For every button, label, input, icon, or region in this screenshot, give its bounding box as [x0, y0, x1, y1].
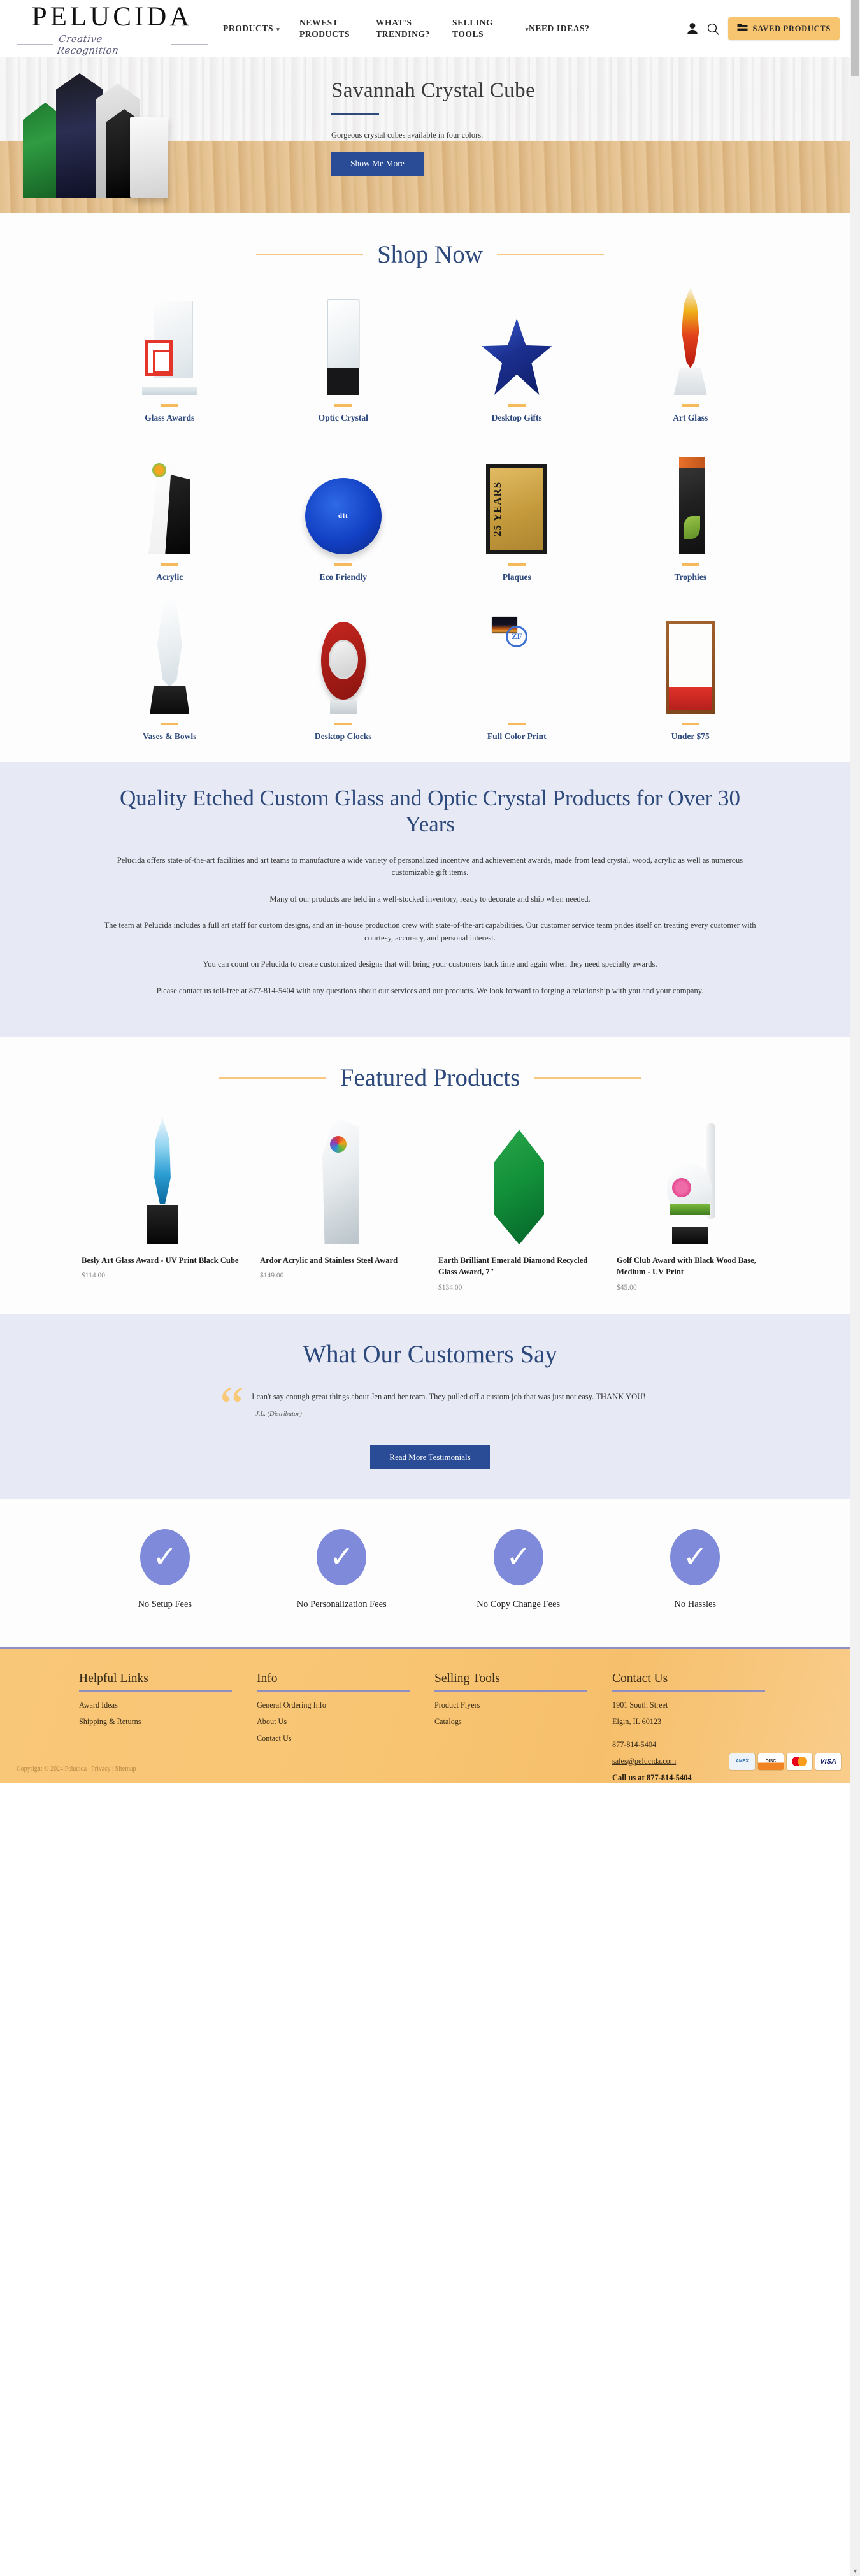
category-image: dlt [259, 446, 428, 554]
featured-products-section: Featured Products Besly Art Glass Award … [0, 1037, 860, 1314]
footer-columns: Helpful Links Award Ideas Shipping & Ret… [70, 1672, 790, 1783]
quality-paragraph: You can count on Pelucida to create cust… [99, 958, 761, 971]
category-card-desktop-gifts[interactable]: Desktop Gifts [430, 280, 604, 437]
footer-column-title: Contact Us [612, 1672, 790, 1686]
category-label: Acrylic [85, 572, 254, 582]
hero-text-block: Savannah Crystal Cube Gorgeous crystal c… [331, 79, 688, 176]
footer-link-contact-us[interactable]: Contact Us [257, 1734, 434, 1743]
quality-paragraph: Pelucida offers state-of-the-art facilit… [99, 854, 761, 879]
category-card-full-color-print[interactable]: ZF Full Color Print [430, 599, 604, 756]
benefits-grid: ✓ No Setup Fees ✓ No Personalization Fee… [76, 1529, 784, 1610]
amex-card-icon: AMEX [729, 1753, 755, 1770]
acrylic-steel-award-icon [319, 1117, 363, 1244]
footer-column-info: Info General Ordering Info About Us Cont… [257, 1672, 434, 1783]
testimonials-section: What Our Customers Say “ I can't say eno… [0, 1314, 860, 1499]
footer-link-award-ideas[interactable]: Award Ideas [79, 1701, 257, 1710]
testimonial-quote: I can't say enough great things about Je… [252, 1390, 645, 1404]
shop-now-section: Shop Now Glass Awards Optic Crystal [0, 213, 860, 762]
footer-address-line1: 1901 South Street [612, 1701, 790, 1710]
category-divider [508, 723, 526, 725]
copyright-text: Copyright © 2024 Pelucida [17, 1766, 87, 1773]
category-label: Glass Awards [85, 413, 254, 423]
scroll-down-arrow[interactable]: ▼ [852, 2568, 858, 2574]
folder-icon [737, 23, 748, 34]
star-award-icon [482, 319, 552, 395]
payment-methods: AMEX DISC VISA [729, 1753, 841, 1770]
product-price: $149.00 [260, 1272, 422, 1279]
nav-label: NEED IDEAS? [529, 23, 590, 34]
footer-spacer [612, 1734, 790, 1740]
hero-title: Savannah Crystal Cube [331, 79, 688, 103]
category-label: Trophies [606, 572, 775, 582]
eco-friendly-disc-icon: dlt [305, 478, 382, 554]
benefit-item: ✓ No Copy Change Fees [430, 1529, 607, 1610]
quality-heading: Quality Etched Custom Glass and Optic Cr… [108, 785, 752, 838]
category-image [85, 605, 254, 714]
page-scrollbar[interactable]: ▲ ▼ [850, 0, 860, 2576]
category-label: Eco Friendly [259, 572, 428, 582]
quality-paragraph: Many of our products are held in a well-… [99, 893, 761, 906]
category-label: Vases & Bowls [85, 731, 254, 742]
benefit-label: No Setup Fees [76, 1599, 254, 1610]
product-card[interactable]: Earth Brilliant Emerald Diamond Recycled… [433, 1107, 605, 1308]
footer-column-title: Selling Tools [434, 1672, 612, 1686]
category-image [606, 287, 775, 395]
plaque-years-text: 25 YEARS [491, 475, 505, 543]
category-image [606, 446, 775, 554]
footer-call-us: Call us at 877-814-5404 [612, 1773, 790, 1783]
art-glass-spire-icon [143, 1117, 182, 1244]
footer-link-catalogs[interactable]: Catalogs [434, 1717, 612, 1727]
testimonial-row: “ I can't say enough great things about … [92, 1386, 768, 1426]
category-label: Desktop Gifts [433, 413, 601, 423]
sitemap-link[interactable]: Sitemap [115, 1766, 136, 1773]
featured-product-grid: Besly Art Glass Award - UV Print Black C… [76, 1107, 784, 1308]
emerald-diamond-icon [494, 1130, 544, 1244]
benefit-label: No Personalization Fees [254, 1599, 431, 1610]
category-image [85, 287, 254, 395]
footer-phone-link[interactable]: 877-814-5404 [612, 1740, 790, 1750]
category-divider [334, 723, 352, 725]
main-navigation: PRODUCTS ▾ NEWEST PRODUCTS WHAT'S TRENDI… [208, 17, 687, 40]
category-image [606, 605, 775, 714]
category-label: Plaques [433, 572, 601, 582]
category-divider [334, 404, 352, 407]
category-image: ZF [433, 605, 601, 714]
quality-paragraph: Please contact us toll-free at 877-814-5… [99, 985, 761, 998]
testimonials-title: What Our Customers Say [0, 1340, 860, 1369]
benefit-item: ✓ No Setup Fees [76, 1529, 254, 1610]
category-divider [161, 563, 178, 566]
chevron-down-icon: ▾ [526, 25, 529, 33]
user-icon[interactable] [687, 22, 698, 35]
product-card[interactable]: Besly Art Glass Award - UV Print Black C… [76, 1107, 248, 1308]
category-divider [682, 563, 699, 566]
footer-column-rule [257, 1690, 410, 1692]
logo-rule-right [171, 44, 208, 45]
full-color-print-icon: ZF [492, 617, 541, 714]
category-divider [508, 563, 526, 566]
hero-cta-button[interactable]: Show Me More [331, 152, 424, 176]
category-divider [161, 723, 178, 725]
product-price: $134.00 [438, 1284, 600, 1292]
category-label: Optic Crystal [259, 413, 428, 423]
category-card-under-75[interactable]: Under $75 [604, 599, 778, 756]
category-card-plaques[interactable]: 25 YEARS Plaques [430, 440, 604, 596]
category-divider [682, 723, 699, 725]
footer-link-shipping-returns[interactable]: Shipping & Returns [79, 1717, 257, 1727]
golf-club-award-icon [667, 1123, 728, 1244]
nav-label: WHAT'S TRENDING? [376, 17, 452, 40]
footer-column-title: Helpful Links [79, 1672, 257, 1686]
quality-paragraph: The team at Pelucida includes a full art… [99, 919, 761, 944]
benefits-section: ✓ No Setup Fees ✓ No Personalization Fee… [0, 1499, 860, 1647]
footer-copyright: Copyright © 2024 Pelucida | Privacy | Si… [17, 1766, 136, 1773]
footer-link-about-us[interactable]: About Us [257, 1717, 434, 1727]
check-circle-icon: ✓ [670, 1529, 720, 1585]
category-image [259, 605, 428, 714]
plaque-icon: 25 YEARS [486, 464, 547, 554]
category-label: Full Color Print [433, 731, 601, 742]
quality-section: Quality Etched Custom Glass and Optic Cr… [0, 762, 860, 1037]
footer-column-rule [612, 1690, 765, 1692]
visa-card-icon: VISA [815, 1753, 841, 1770]
quote-icon: “ [220, 1386, 244, 1426]
product-name: Earth Brilliant Emerald Diamond Recycled… [438, 1255, 600, 1278]
nav-item-newest-products[interactable]: NEWEST PRODUCTS [299, 17, 376, 40]
product-image [617, 1107, 778, 1244]
discover-card-icon: DISC [758, 1753, 784, 1770]
category-card-desktop-clocks[interactable]: Desktop Clocks [257, 599, 431, 756]
footer-column-title: Info [257, 1672, 434, 1686]
product-price: $114.00 [82, 1272, 243, 1279]
product-image [260, 1107, 422, 1244]
hero-award-cube [130, 117, 168, 198]
nav-label: SELLING TOOLS [452, 17, 522, 40]
category-card-optic-crystal[interactable]: Optic Crystal [257, 280, 431, 437]
header-actions: SAVED PRODUCTS [687, 17, 851, 40]
heading-rule-left [219, 1077, 326, 1079]
benefit-item: ✓ No Personalization Fees [254, 1529, 431, 1610]
nav-item-products[interactable]: PRODUCTS ▾ [223, 23, 299, 34]
vase-icon [145, 599, 194, 714]
category-card-eco-friendly[interactable]: dlt Eco Friendly [257, 440, 431, 596]
check-circle-icon: ✓ [140, 1529, 190, 1585]
chevron-down-icon: ▾ [276, 25, 280, 33]
eco-badge-text: dlt [305, 478, 382, 554]
category-label: Desktop Clocks [259, 731, 428, 742]
product-price: $45.00 [617, 1284, 778, 1292]
search-icon[interactable] [707, 23, 719, 35]
category-label: Art Glass [606, 413, 775, 423]
saved-products-label: SAVED PRODUCTS [753, 24, 831, 34]
hero-banner: Savannah Crystal Cube Gorgeous crystal c… [0, 57, 860, 213]
fcp-logo-text: ZF [506, 626, 527, 647]
site-logo[interactable]: PELUCIDA Creative Recognition [17, 2, 208, 56]
category-image [259, 287, 428, 395]
category-card-vases-bowls[interactable]: Vases & Bowls [83, 599, 257, 756]
nav-label: NEWEST PRODUCTS [299, 17, 376, 40]
optic-crystal-icon [324, 299, 363, 395]
product-card[interactable]: Ardor Acrylic and Stainless Steel Award … [255, 1107, 427, 1308]
shop-now-title: Shop Now [377, 240, 483, 269]
footer-address-line2: Elgin, IL 60123 [612, 1717, 790, 1727]
check-circle-icon: ✓ [494, 1529, 543, 1585]
category-card-acrylic[interactable]: Acrylic [83, 440, 257, 596]
heading-rule-left [256, 254, 363, 255]
category-image: 25 YEARS [433, 446, 601, 554]
footer-column-rule [434, 1690, 587, 1692]
nav-item-need-ideas[interactable]: NEED IDEAS? [529, 23, 605, 34]
heading-rule-right [534, 1077, 641, 1079]
footer-column-rule [79, 1690, 232, 1692]
mastercard-card-icon [787, 1753, 812, 1770]
category-card-trophies[interactable]: Trophies [604, 440, 778, 596]
hero-award-photo [11, 69, 368, 206]
logo-rule-left [17, 44, 53, 45]
read-more-testimonials-button[interactable]: Read More Testimonials [370, 1445, 489, 1469]
under-75-plaque-icon [666, 621, 715, 714]
site-footer: Helpful Links Award Ideas Shipping & Ret… [0, 1647, 860, 1783]
heading-rule-right [497, 254, 604, 255]
category-label: Under $75 [606, 731, 775, 742]
saved-products-button[interactable]: SAVED PRODUCTS [728, 17, 840, 40]
category-divider [682, 404, 699, 407]
category-card-art-glass[interactable]: Art Glass [604, 280, 778, 437]
trophy-column-icon [673, 457, 708, 554]
footer-link-product-flyers[interactable]: Product Flyers [434, 1701, 612, 1710]
category-card-glass-awards[interactable]: Glass Awards [83, 280, 257, 437]
category-image [85, 446, 254, 554]
glass-award-icon [142, 301, 197, 395]
check-circle-icon: ✓ [317, 1529, 366, 1585]
featured-heading-row: Featured Products [0, 1063, 860, 1092]
category-divider [161, 404, 178, 407]
hero-subtitle: Gorgeous crystal cubes available in four… [331, 131, 688, 140]
logo-wordmark: PELUCIDA [17, 3, 208, 31]
product-name: Ardor Acrylic and Stainless Steel Award [260, 1255, 422, 1266]
benefit-label: No Copy Change Fees [430, 1599, 607, 1610]
category-image [433, 287, 601, 395]
product-name: Besly Art Glass Award - UV Print Black C… [82, 1255, 243, 1266]
art-glass-flame-icon [673, 287, 708, 395]
footer-link-general-ordering-info[interactable]: General Ordering Info [257, 1701, 434, 1710]
nav-item-whats-trending[interactable]: WHAT'S TRENDING? [376, 17, 452, 40]
privacy-link[interactable]: Privacy [91, 1766, 111, 1773]
featured-title: Featured Products [340, 1063, 520, 1092]
nav-label: PRODUCTS [223, 23, 273, 34]
product-name: Golf Club Award with Black Wood Base, Me… [617, 1255, 778, 1278]
acrylic-award-icon [148, 456, 190, 554]
benefit-label: No Hassles [607, 1599, 784, 1610]
product-image [438, 1107, 600, 1244]
testimonial-author: - J.L. (Distributor) [252, 1411, 645, 1418]
product-image [82, 1107, 243, 1244]
category-divider [508, 404, 526, 407]
desk-clock-icon [316, 618, 371, 714]
site-header: PELUCIDA Creative Recognition PRODUCTS ▾… [0, 0, 860, 57]
shop-now-heading-row: Shop Now [0, 240, 860, 269]
footer-column-selling-tools: Selling Tools Product Flyers Catalogs [434, 1672, 612, 1783]
logo-tagline-row: Creative Recognition [17, 33, 208, 56]
benefit-item: ✓ No Hassles [607, 1529, 784, 1610]
category-divider [334, 563, 352, 566]
testimonial-body: I can't say enough great things about Je… [252, 1386, 645, 1418]
hero-divider [331, 113, 379, 115]
category-grid: Glass Awards Optic Crystal Desktop Gifts [83, 280, 777, 756]
logo-tagline: Creative Recognition [57, 33, 168, 56]
scrollbar-thumb[interactable] [851, 0, 859, 76]
nav-item-selling-tools[interactable]: SELLING TOOLS ▾ [452, 17, 529, 40]
product-card[interactable]: Golf Club Award with Black Wood Base, Me… [612, 1107, 784, 1308]
